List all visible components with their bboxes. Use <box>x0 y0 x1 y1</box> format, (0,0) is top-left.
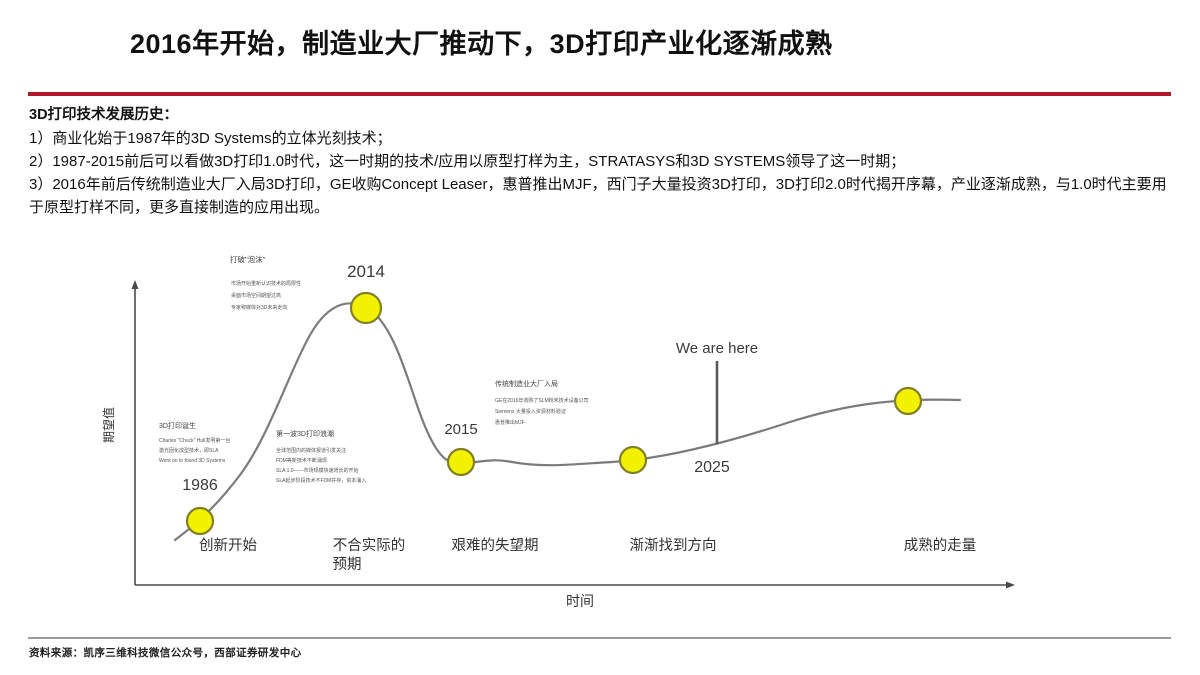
x-axis-label: 时间 <box>566 593 594 609</box>
marker-late <box>895 388 921 414</box>
source-note: 资料来源：凯序三维科技微信公众号，西部证券研发中心 <box>29 645 302 660</box>
year-1986-label: 1986 <box>182 477 218 494</box>
annotation-first-wave-bullet-2: SLA 1.0——市场规模快速增长的开始 <box>276 467 359 474</box>
annotation-big-players-bullet-2: 惠普推出MJF <box>495 419 525 426</box>
section-heading: 3D打印技术发展历史： <box>29 103 178 124</box>
stage-label-4: 成熟的走量 <box>904 537 977 554</box>
stage-label-3: 渐渐找到方向 <box>630 537 717 554</box>
annotation-birth-bullet-1: 激光固化成型技术，即SLA <box>159 447 219 454</box>
body-line-2: 2）1987-2015前后可以看做3D打印1.0时代，这一时期的技术/应用以原型… <box>29 150 1179 173</box>
annotation-big-players-bullet-1: Siemens 大量投入资源材料验证 <box>495 408 566 415</box>
annotation-first-wave-bullet-3: SLA起步阶段技术不FDM并存，资本涌入 <box>276 477 366 484</box>
annotation-big-players-bullet-0: GE在2016年收购了SLM粉末技术设备公司 <box>495 397 589 404</box>
marker-2014 <box>351 293 381 323</box>
annotation-bubble-bullet-0: 市场开始重新认识技术的局限性 <box>231 280 301 287</box>
annotation-birth-bullet-2: Went on to found 3D Systems <box>159 458 226 464</box>
year-2014-label: 2014 <box>347 262 385 281</box>
body-line-3: 3）2016年前后传统制造业大厂入局3D打印，GE收购Concept Lease… <box>29 173 1179 219</box>
slide-root: 2016年开始，制造业大厂推动下，3D打印产业化逐渐成熟 3D打印技术发展历史：… <box>0 0 1200 675</box>
stage-label-1b: 预期 <box>333 556 362 573</box>
annotation-first-wave: 第一波3D打印浪潮 全球范围内的媒体报道引发关注 FDM等新技术不断涌现 SLA… <box>276 429 366 484</box>
body-text: 1）商业化始于1987年的3D Systems的立体光刻技术； 2）1987-2… <box>29 127 1179 219</box>
annotation-big-players: 传统制造业大厂入局 GE在2016年收购了SLM粉末技术设备公司 Siemens… <box>495 379 589 426</box>
annotation-bubble-bullet-1: 桌面市场空间期望过高 <box>231 292 281 299</box>
footer-divider <box>28 637 1171 639</box>
annotation-birth-bullet-0: Charles "Chuck" Hull发明第一台 <box>159 437 230 444</box>
page-title: 2016年开始，制造业大厂推动下，3D打印产业化逐渐成熟 <box>130 22 1090 61</box>
annotation-bubble-heading: 打破"泡沫" <box>230 254 266 264</box>
annotation-first-wave-bullet-1: FDM等新技术不断涌现 <box>276 457 327 464</box>
we-are-here-annotation: We are here 2025 <box>676 340 758 476</box>
annotation-bubble: 打破"泡沫" 市场开始重新认识技术的局限性 桌面市场空间期望过高 专家称媒体对3… <box>230 254 301 311</box>
marker-2015 <box>448 449 474 475</box>
year-2015-label: 2015 <box>444 421 477 438</box>
y-axis-label: 期望值 <box>101 407 116 443</box>
annotation-big-players-heading: 传统制造业大厂入局 <box>495 379 558 388</box>
year-2025-label: 2025 <box>694 459 730 476</box>
annotation-birth-heading: 3D打印诞生 <box>159 421 196 430</box>
marker-mid <box>620 447 646 473</box>
annotation-first-wave-heading: 第一波3D打印浪潮 <box>276 429 334 438</box>
accent-divider <box>28 92 1171 96</box>
annotation-bubble-bullet-2: 专家称媒体对3D未来走向 <box>231 304 287 311</box>
annotation-first-wave-bullet-0: 全球范围内的媒体报道引发关注 <box>276 447 346 454</box>
marker-1986 <box>187 508 213 534</box>
we-are-here-label: We are here <box>676 340 758 357</box>
stage-label-1: 不合实际的 <box>333 537 406 554</box>
body-line-1: 1）商业化始于1987年的3D Systems的立体光刻技术； <box>29 127 1179 150</box>
stage-label-0: 创新开始 <box>199 537 257 554</box>
hype-curve <box>175 303 960 540</box>
annotation-birth: 3D打印诞生 Charles "Chuck" Hull发明第一台 激光固化成型技… <box>159 421 230 464</box>
hype-cycle-chart: We are here 2025 1986 2014 2015 期望值 时间 创… <box>0 240 1200 630</box>
stage-label-2: 艰难的失望期 <box>452 537 539 554</box>
